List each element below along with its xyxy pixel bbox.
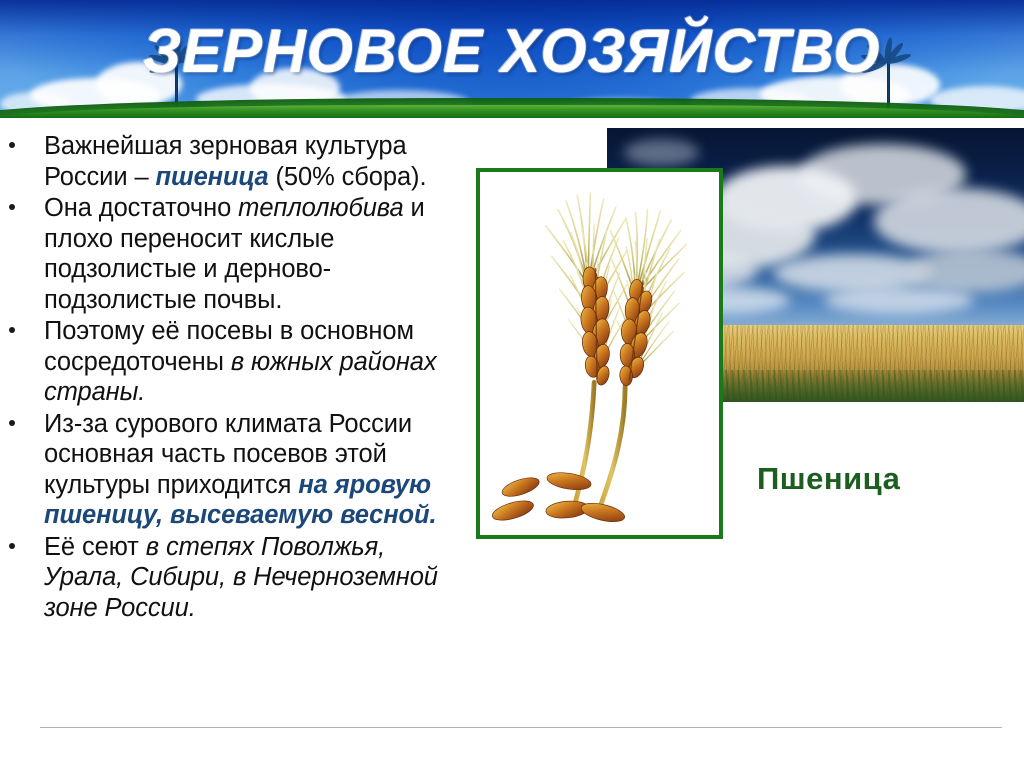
wheat-grain bbox=[546, 470, 592, 493]
list-item: Из-за сурового климата России основная ч… bbox=[0, 409, 462, 531]
header-banner: ЗЕРНОВОЕ ХОЗЯЙСТВО bbox=[0, 0, 1024, 118]
bullet-text-highlight: пшеница bbox=[156, 163, 269, 191]
horizontal-rule bbox=[40, 727, 1002, 728]
photo-cloud-icon bbox=[624, 139, 699, 166]
slide-root: ЗЕРНОВОЕ ХОЗЯЙСТВО Важнейшая зерновая ку… bbox=[0, 0, 1024, 767]
page-title: ЗЕРНОВОЕ ХОЗЯЙСТВО bbox=[15, 16, 1008, 86]
list-item: Её сеют в степях Поволжья, Урала, Сибири… bbox=[0, 532, 462, 624]
bullet-text-italic: теплолюбива bbox=[238, 194, 403, 222]
image-caption: Пшеница bbox=[757, 461, 900, 497]
wheat-ears-illustration bbox=[480, 172, 719, 535]
banner-grass-strip-front bbox=[0, 105, 1024, 118]
bullet-text-segment: Она достаточно bbox=[44, 194, 238, 222]
bullet-list: Важнейшая зерновая культура России – пше… bbox=[0, 131, 462, 624]
wheat-ear bbox=[546, 193, 628, 387]
list-item: Поэтому её посевы в основном сосредоточе… bbox=[0, 316, 462, 408]
list-item: Она достаточно теплолюбива и плохо перен… bbox=[0, 193, 462, 315]
wheat-illustration-card bbox=[476, 168, 723, 539]
bullet-text-segment: Её сеют bbox=[44, 533, 146, 561]
wheat-grain bbox=[490, 497, 535, 524]
list-item: Важнейшая зерновая культура России – пше… bbox=[0, 131, 462, 192]
wheat-grain bbox=[500, 474, 541, 500]
bullet-dot-icon bbox=[9, 420, 15, 426]
bullet-text-segment: (50% сбора). bbox=[269, 163, 427, 191]
photo-cloud-icon bbox=[824, 287, 974, 314]
bullet-dot-icon bbox=[9, 327, 15, 333]
bullet-dot-icon bbox=[9, 142, 15, 148]
wheat-stem bbox=[598, 385, 625, 512]
bullet-dot-icon bbox=[9, 204, 15, 210]
bullet-dot-icon bbox=[9, 543, 15, 549]
